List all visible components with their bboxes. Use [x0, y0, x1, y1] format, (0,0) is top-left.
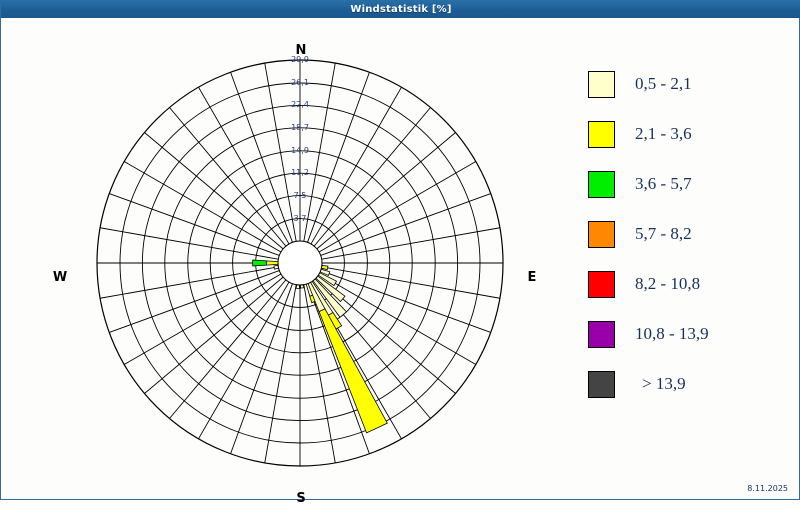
legend-label: 5,7 - 8,2 — [635, 224, 692, 244]
legend-item[interactable]: > 13,9 — [588, 359, 788, 409]
window-title: Windstatistik [%] — [350, 4, 451, 15]
calm-circle — [278, 241, 322, 285]
legend-item[interactable]: 0,5 - 2,1 — [588, 59, 788, 109]
radial-tick-label: 29,9 — [280, 55, 320, 64]
compass-label-south: S — [283, 491, 319, 506]
wind-rose-plot: N E S W 3,77,511,214,918,722,426,129,9 0… — [2, 19, 798, 499]
legend-item[interactable]: 10,8 - 13,9 — [588, 309, 788, 359]
legend-label: 0,5 - 2,1 — [635, 74, 692, 94]
wind-rose-window: Windstatistik [%] N E S W 3,77,511,214,9… — [0, 0, 800, 500]
radial-tick-label: 11,2 — [280, 168, 320, 177]
legend-label: 10,8 - 13,9 — [635, 324, 709, 344]
radial-tick-label: 22,4 — [280, 100, 320, 109]
legend-swatch — [588, 71, 615, 98]
legend-label: 3,6 - 5,7 — [635, 174, 692, 194]
legend-item[interactable]: 5,7 - 8,2 — [588, 209, 788, 259]
legend-item[interactable]: 2,1 - 3,6 — [588, 109, 788, 159]
window-title-bar: Windstatistik [%] — [1, 1, 800, 18]
legend-label: > 13,9 — [642, 374, 686, 394]
legend-swatch — [588, 371, 615, 398]
legend-swatch — [588, 171, 615, 198]
legend-swatch — [588, 121, 615, 148]
radial-tick-label: 3,7 — [280, 214, 320, 223]
legend-swatch — [588, 221, 615, 248]
radial-tick-label: 18,7 — [280, 123, 320, 132]
radial-tick-label: 26,1 — [280, 78, 320, 87]
legend-swatch — [588, 271, 615, 298]
legend: 0,5 - 2,12,1 - 3,63,6 - 5,75,7 - 8,28,2 … — [588, 59, 788, 409]
legend-label: 2,1 - 3,6 — [635, 124, 692, 144]
legend-swatch — [588, 321, 615, 348]
compass-label-west: W — [42, 270, 78, 285]
legend-item[interactable]: 8,2 - 10,8 — [588, 259, 788, 309]
date-stamp: 8.11.2025 — [747, 484, 788, 493]
radial-tick-label: 14,9 — [280, 146, 320, 155]
legend-item[interactable]: 3,6 - 5,7 — [588, 159, 788, 209]
legend-label: 8,2 - 10,8 — [635, 274, 700, 294]
compass-label-east: E — [514, 270, 550, 285]
radial-tick-label: 7,5 — [280, 191, 320, 200]
